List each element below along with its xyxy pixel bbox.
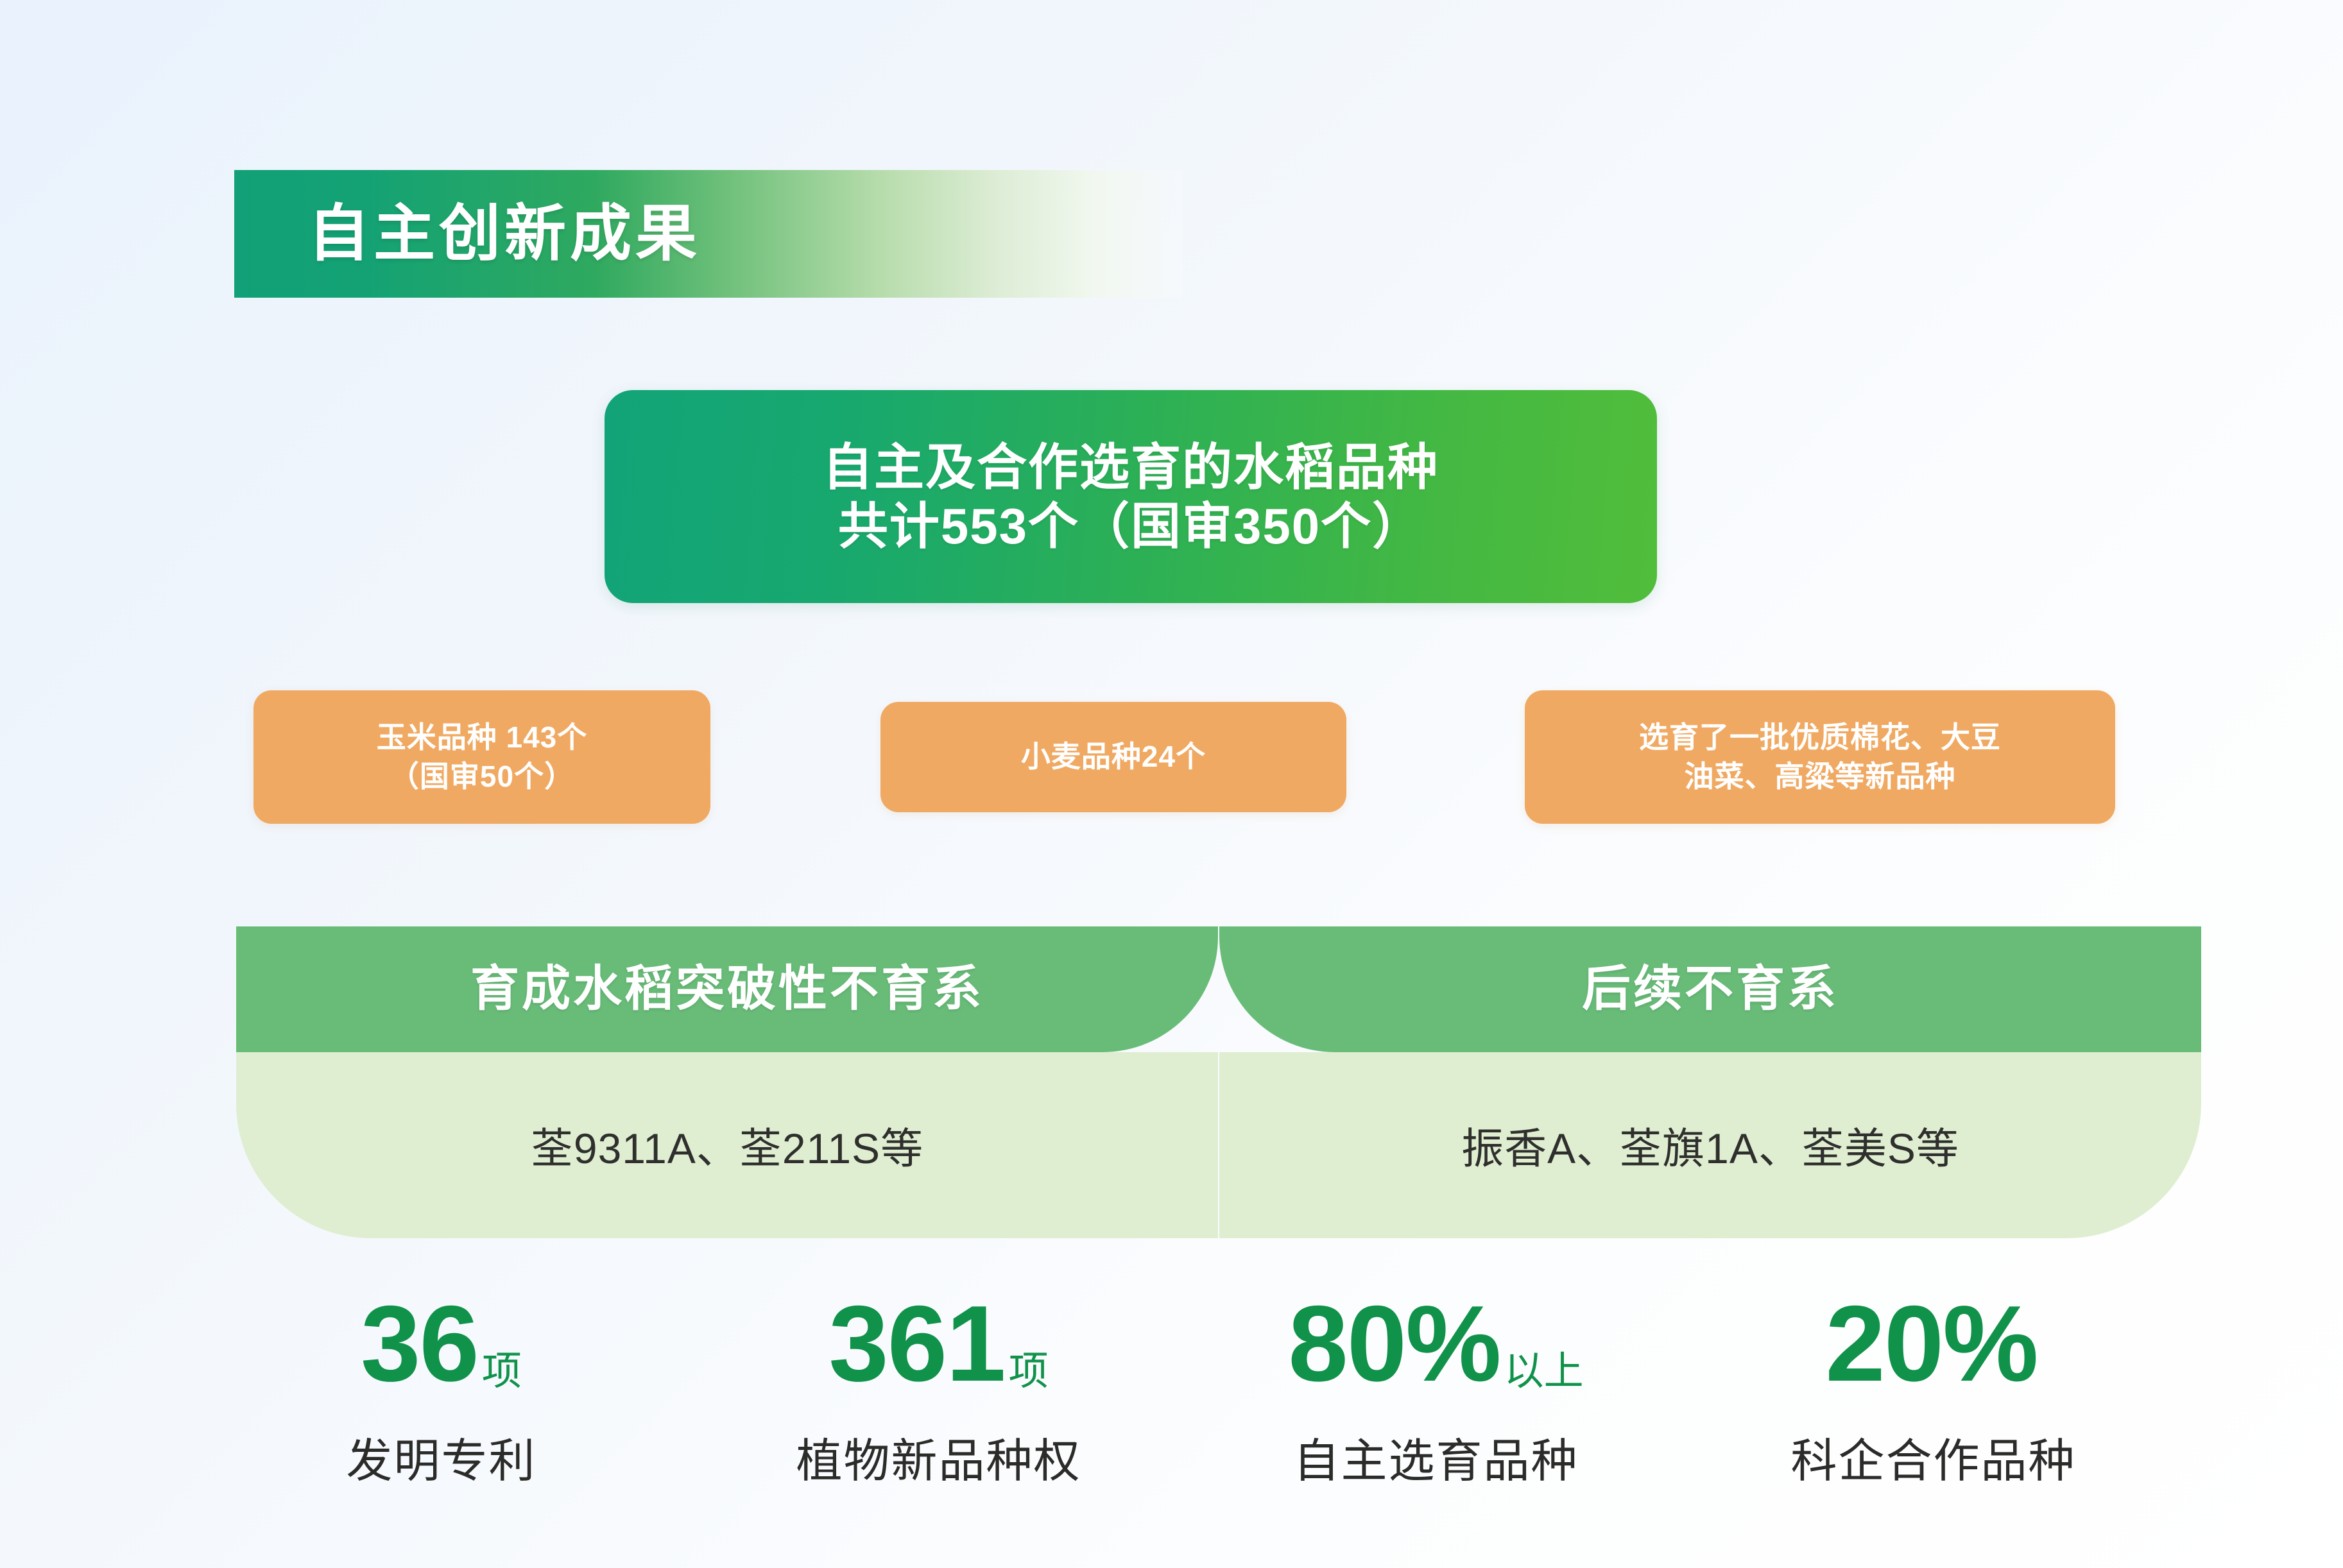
hero-card-line-2: 共计553个（国审350个） (838, 497, 1423, 556)
stat-invention-patents-label: 发明专利 (346, 1438, 536, 1485)
stat-plant-variety-rights-number: 361 (828, 1290, 1004, 1397)
panel-breakthrough-sterile-lines: 育成水稻突破性不育系 荃9311A、荃211S等 (236, 926, 1218, 1238)
panel-left-header-text: 育成水稻突破性不育系 (470, 965, 984, 1014)
stat-self-bred-varieties-unit: 以上 (1504, 1352, 1584, 1392)
stat-invention-patents-value: 36 项 (361, 1290, 522, 1411)
stat-plant-variety-rights-unit: 项 (1009, 1352, 1049, 1392)
stat-self-bred-varieties-label: 自主选育品种 (1293, 1438, 1578, 1485)
chip-other-line-2: 油菜、高粱等新品种 (1639, 757, 2001, 796)
stat-self-bred-varieties-value: 80% 以上 (1288, 1290, 1583, 1411)
chip-other-line-1: 选育了一批优质棉花、大豆 (1639, 718, 2001, 757)
stat-enterprise-coop-varieties-value: 20% (1825, 1290, 2041, 1411)
page-title: 自主创新成果 (308, 203, 701, 265)
stat-self-bred-varieties-number: 80% (1288, 1290, 1500, 1397)
section-title-banner: 自主创新成果 (234, 170, 1183, 298)
chip-wheat-text: 小麦品种24个 (1021, 737, 1206, 776)
panel-right-body: 振香A、荃旗1A、荃美S等 (1219, 1052, 2201, 1238)
panel-left-body: 荃9311A、荃211S等 (236, 1052, 1218, 1238)
panel-right-body-text: 振香A、荃旗1A、荃美S等 (1461, 1114, 1959, 1176)
panel-right-header-text: 后续不育系 (1582, 965, 1839, 1014)
stat-invention-patents-number: 36 (361, 1290, 478, 1397)
panel-right-header: 后续不育系 (1219, 926, 2201, 1052)
chip-corn-line-1: 玉米品种 143个 (377, 718, 588, 757)
stat-plant-variety-rights-value: 361 项 (828, 1290, 1048, 1411)
panel-left-body-text: 荃9311A、荃211S等 (531, 1114, 923, 1176)
stat-plant-variety-rights-label: 植物新品种权 (796, 1438, 1081, 1485)
chip-corn-varieties: 玉米品种 143个 （国审50个） (253, 690, 710, 824)
chip-other-text: 选育了一批优质棉花、大豆 油菜、高粱等新品种 (1639, 718, 2001, 796)
chip-wheat-line-1: 小麦品种24个 (1021, 737, 1206, 776)
stat-invention-patents: 36 项 发明专利 (193, 1290, 690, 1546)
chip-corn-text: 玉米品种 143个 （国审50个） (377, 718, 588, 796)
chip-wheat-varieties: 小麦品种24个 (880, 702, 1346, 812)
stat-enterprise-coop-varieties-number: 20% (1825, 1290, 2037, 1397)
chip-corn-line-2: （国审50个） (377, 757, 588, 796)
stat-self-bred-varieties: 80% 以上 自主选育品种 (1187, 1290, 1685, 1546)
panel-subsequent-sterile-lines: 后续不育系 振香A、荃旗1A、荃美S等 (1219, 926, 2201, 1238)
panel-left-header: 育成水稻突破性不育系 (236, 926, 1218, 1052)
stat-invention-patents-unit: 项 (482, 1352, 522, 1392)
infographic-canvas: 自主创新成果 自主及合作选育的水稻品种 共计553个（国审350个） 玉米品种 … (0, 0, 2343, 1568)
stat-enterprise-coop-varieties: 20% 科企合作品种 (1685, 1290, 2182, 1546)
hero-card-line-1: 自主及合作选育的水稻品种 (823, 438, 1439, 497)
chip-other-crops: 选育了一批优质棉花、大豆 油菜、高粱等新品种 (1525, 690, 2115, 824)
stat-enterprise-coop-varieties-label: 科企合作品种 (1790, 1438, 2075, 1485)
crop-chips-row: 玉米品种 143个 （国审50个） 小麦品种24个 选育了一批优质棉花、大豆 油… (0, 685, 2343, 826)
hero-rice-varieties-card: 自主及合作选育的水稻品种 共计553个（国审350个） (605, 390, 1657, 603)
stat-plant-variety-rights: 361 项 植物新品种权 (690, 1290, 1187, 1546)
statistics-row: 36 项 发明专利 361 项 植物新品种权 80% 以上 自主选育品种 20% (193, 1290, 2182, 1546)
